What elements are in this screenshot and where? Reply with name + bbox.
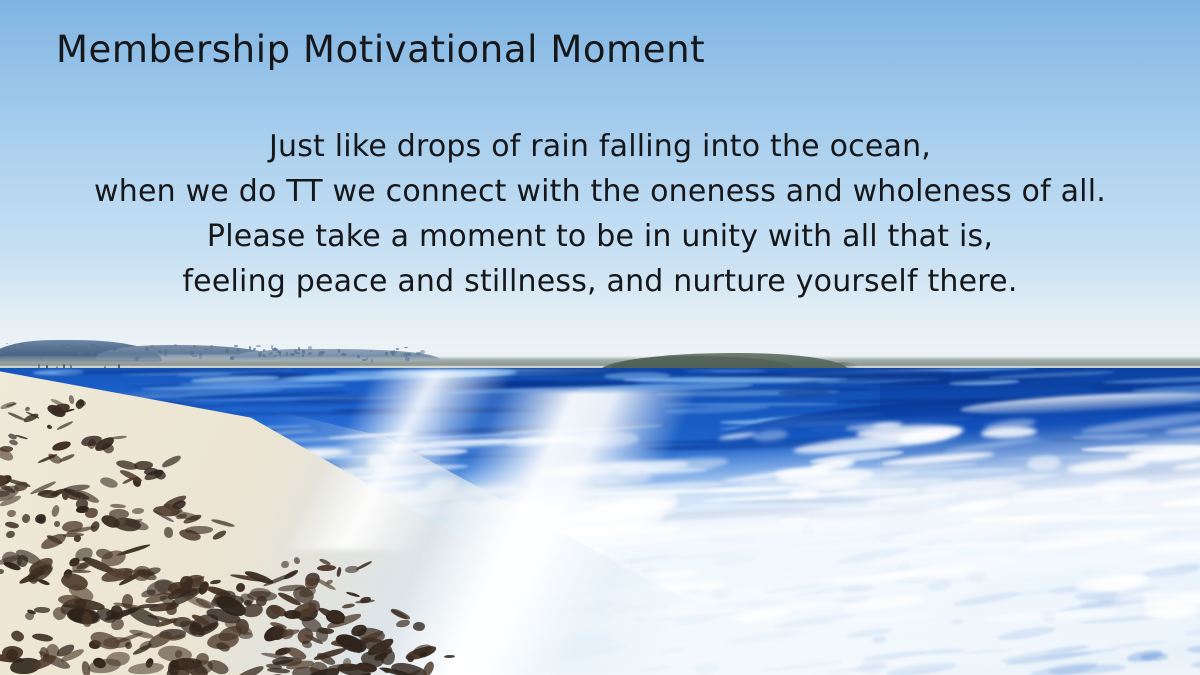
vegetation-speckle bbox=[20, 343, 24, 346]
slide-canvas: Membership Motivational Moment Just like… bbox=[0, 0, 1200, 675]
seaweed-clump bbox=[247, 590, 277, 601]
vegetation-speckle bbox=[263, 356, 267, 358]
vegetation-speckle bbox=[308, 352, 312, 355]
vegetation-speckle bbox=[134, 357, 139, 361]
vegetation-speckle bbox=[268, 353, 271, 355]
seaweed-clump bbox=[7, 510, 16, 517]
vegetation-speckle bbox=[273, 355, 276, 357]
vegetation-speckle bbox=[112, 347, 116, 351]
seaweed-clump bbox=[412, 622, 424, 631]
vegetation-speckle bbox=[16, 349, 19, 351]
vegetation-speckle bbox=[145, 347, 149, 351]
vegetation-speckle bbox=[82, 355, 84, 357]
seaweed-clump bbox=[0, 446, 13, 452]
vegetation-speckle bbox=[126, 346, 128, 348]
vegetation-speckle bbox=[90, 352, 94, 354]
vegetation-speckle bbox=[290, 353, 294, 356]
vegetation-speckle bbox=[234, 345, 237, 348]
seaweed-clump bbox=[81, 612, 92, 628]
vegetation-speckle bbox=[392, 353, 395, 355]
vegetation-speckle bbox=[210, 345, 212, 349]
page-title: Membership Motivational Moment bbox=[56, 28, 705, 71]
vegetation-speckle bbox=[406, 353, 411, 355]
vegetation-speckle bbox=[274, 347, 276, 351]
vegetation-speckle bbox=[263, 349, 265, 352]
vegetation-speckle bbox=[338, 349, 340, 353]
vegetation-speckle bbox=[192, 355, 197, 358]
message-line-4: feeling peace and stillness, and nurture… bbox=[0, 259, 1200, 304]
motivational-message: Just like drops of rain falling into the… bbox=[0, 124, 1200, 304]
vegetation-speckle bbox=[204, 348, 209, 350]
vegetation-speckle bbox=[258, 352, 262, 356]
seaweed-clump bbox=[444, 654, 455, 657]
vegetation-speckle bbox=[190, 351, 194, 355]
vegetation-speckle bbox=[303, 350, 305, 354]
message-line-3: Please take a moment to be in unity with… bbox=[0, 214, 1200, 259]
vegetation-speckle bbox=[249, 346, 251, 350]
vegetation-speckle bbox=[1, 352, 4, 354]
vegetation-speckle bbox=[396, 348, 399, 350]
vegetation-speckle bbox=[102, 347, 104, 351]
vegetation-speckle bbox=[40, 355, 42, 359]
vegetation-speckle bbox=[298, 347, 300, 351]
vegetation-speckle bbox=[385, 352, 388, 355]
vegetation-speckle bbox=[294, 349, 297, 353]
vegetation-speckle bbox=[193, 345, 196, 348]
vegetation-speckle bbox=[230, 356, 233, 360]
seaweed-clump bbox=[185, 526, 213, 534]
vegetation-speckle bbox=[199, 357, 202, 359]
vegetation-speckle bbox=[174, 344, 177, 347]
seaweed-clump bbox=[281, 560, 290, 568]
message-line-1: Just like drops of rain falling into the… bbox=[0, 124, 1200, 169]
seaweed-clump bbox=[284, 610, 301, 619]
vegetation-speckle bbox=[319, 351, 324, 354]
vegetation-speckle bbox=[237, 348, 239, 352]
vegetation-speckle bbox=[256, 345, 261, 347]
vegetation-speckle bbox=[13, 344, 16, 348]
message-line-2: when we do TT we connect with the onenes… bbox=[0, 169, 1200, 214]
vegetation-speckle bbox=[225, 350, 229, 352]
